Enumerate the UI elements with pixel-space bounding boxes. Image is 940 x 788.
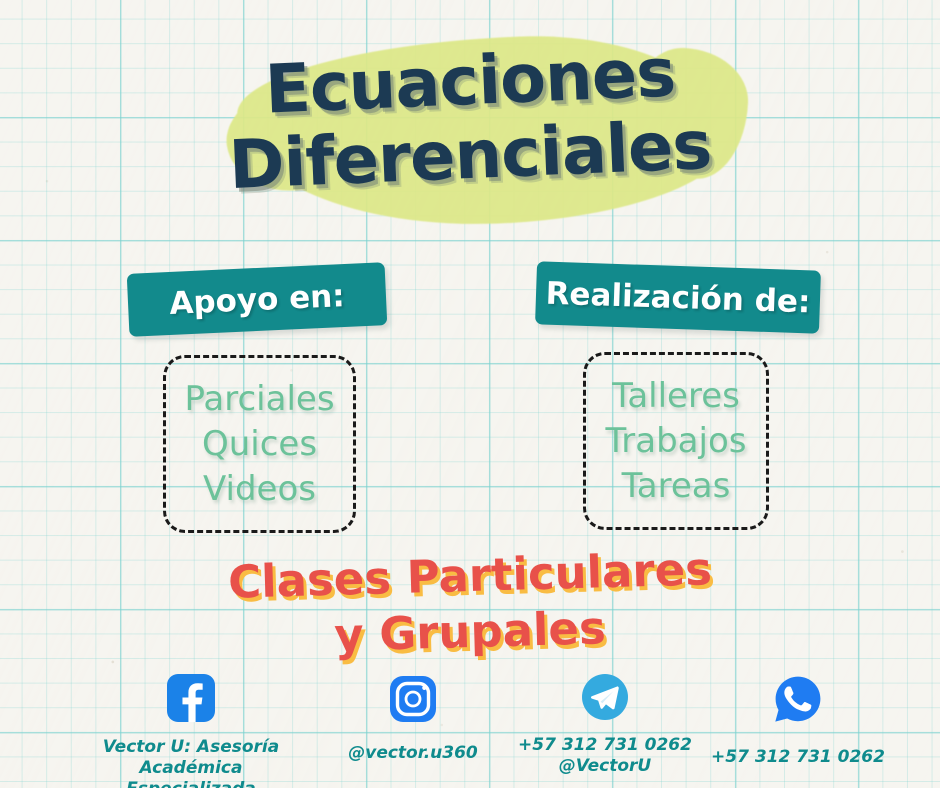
list-item: Parciales [184, 377, 334, 422]
list-item: Talleres [612, 374, 740, 419]
social-instagram-label: @vector.u360 [348, 743, 478, 764]
list-item: Quices [202, 422, 317, 467]
social-whatsapp-label: +57 312 731 0262 [711, 747, 885, 768]
banner-realizacion-de: Realización de: [535, 261, 821, 333]
social-telegram[interactable]: +57 312 731 0262 @VectorU [512, 672, 698, 777]
banner-apoyo-en-label: Apoyo en: [169, 278, 346, 322]
services-box-apoyo: Parciales Quices Videos [163, 355, 356, 533]
social-instagram[interactable]: @vector.u360 [322, 674, 504, 764]
list-item: Videos [203, 467, 316, 512]
list-item: Trabajos [606, 419, 747, 464]
social-facebook-label: Vector U: Asesoría Académica Especializa… [72, 737, 310, 788]
banner-apoyo-en: Apoyo en: [127, 262, 388, 337]
poster-canvas: Ecuaciones Diferenciales Apoyo en: Reali… [0, 0, 940, 788]
facebook-icon[interactable] [165, 672, 217, 729]
telegram-icon[interactable] [580, 672, 630, 727]
instagram-icon[interactable] [388, 674, 438, 729]
banner-realizacion-de-label: Realización de: [545, 275, 811, 320]
social-whatsapp[interactable]: +57 312 731 0262 [700, 674, 896, 768]
services-box-realizacion: Talleres Trabajos Tareas [583, 352, 769, 530]
list-item: Tareas [622, 464, 731, 509]
title-block: Ecuaciones Diferenciales [0, 22, 940, 222]
whatsapp-icon[interactable] [773, 674, 823, 729]
headline-block: Clases Particulares y Grupales [0, 548, 940, 660]
social-telegram-label: +57 312 731 0262 @VectorU [518, 735, 692, 777]
social-facebook[interactable]: Vector U: Asesoría Académica Especializa… [72, 672, 310, 788]
